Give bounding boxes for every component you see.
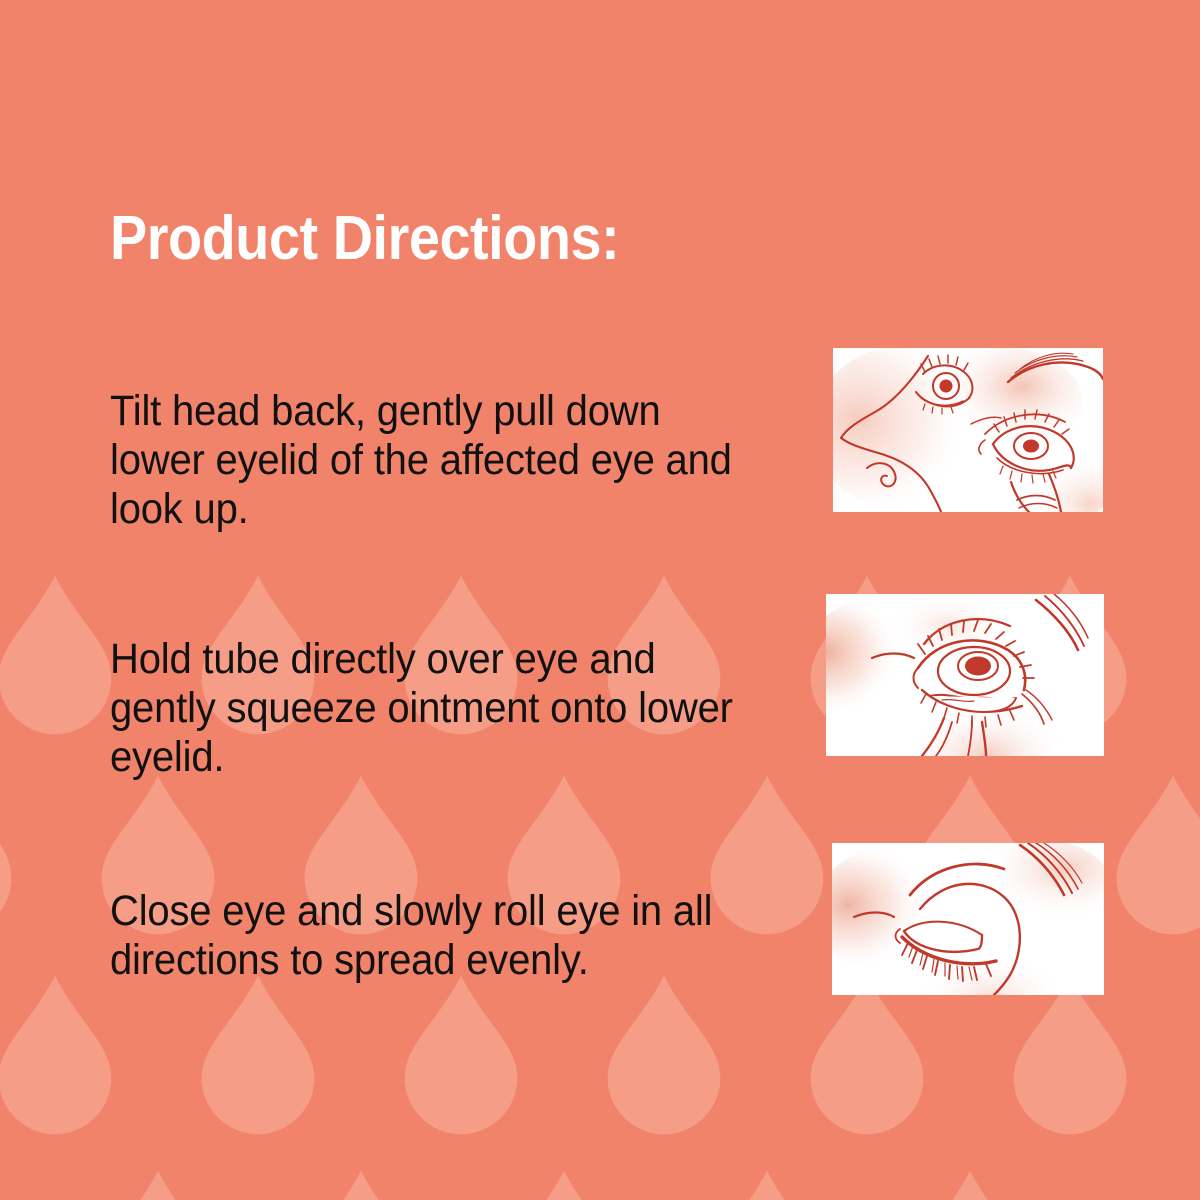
step-1-illustration <box>833 348 1103 512</box>
page-title: Product Directions: <box>110 208 619 270</box>
step-2-text: Hold tube directly over eye and gently s… <box>110 635 761 782</box>
step-3-text: Close eye and slowly roll eye in all dir… <box>110 887 761 985</box>
step-1-text: Tilt head back, gently pull down lower e… <box>110 387 761 534</box>
step-2-illustration <box>826 594 1104 756</box>
step-3-illustration <box>832 843 1104 995</box>
product-directions-poster: Product Directions: Tilt head back, gent… <box>0 0 1200 1200</box>
